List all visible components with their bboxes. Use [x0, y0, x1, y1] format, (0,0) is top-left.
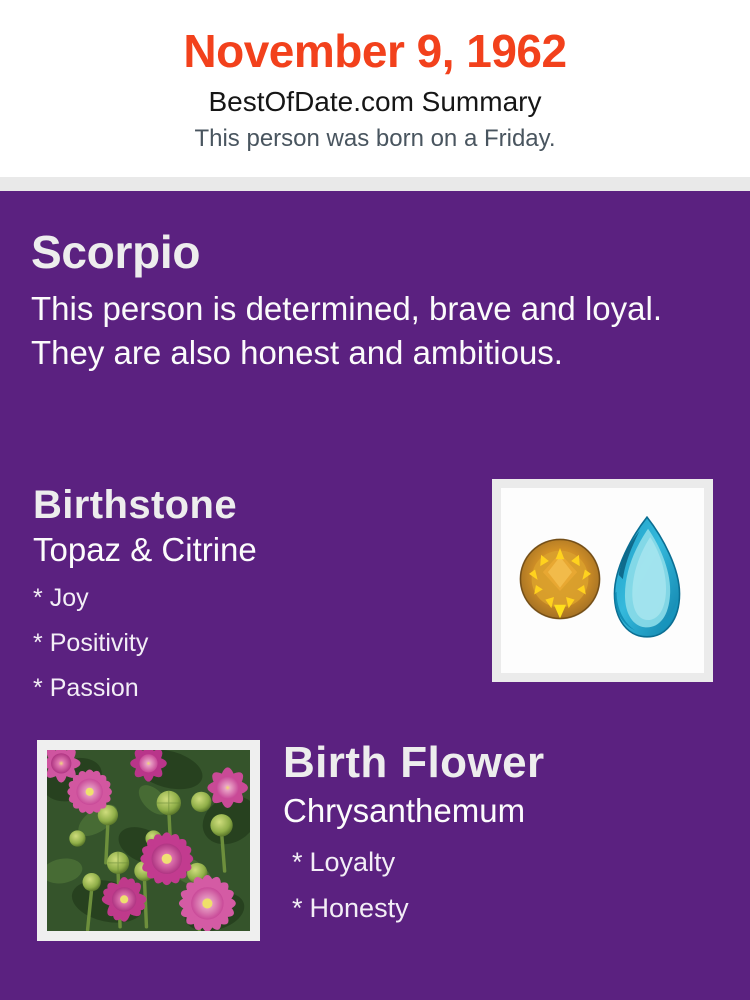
list-item: *Joy — [33, 576, 473, 621]
trait-label: Passion — [50, 674, 139, 702]
birth-flower-trait-list: *Loyalty *Honesty — [283, 839, 723, 931]
site-summary-label: BestOfDate.com Summary — [0, 83, 750, 121]
zodiac-sign-name: Scorpio — [31, 225, 703, 279]
list-item: *Positivity — [33, 621, 473, 666]
birthstone-section: Birthstone Topaz & Citrine *Joy *Positiv… — [33, 480, 473, 711]
flower-image-frame — [37, 740, 260, 941]
bullet-star-icon: * — [33, 666, 43, 711]
birth-flower-section: Birth Flower Chrysanthemum *Loyalty *Hon… — [283, 735, 723, 931]
birth-flower-heading: Birth Flower — [283, 735, 723, 791]
bullet-star-icon: * — [292, 839, 303, 885]
chrysanthemum-photo-icon — [47, 750, 250, 931]
birth-flower-name: Chrysanthemum — [283, 789, 723, 833]
flower-image — [47, 750, 250, 931]
page-title: November 9, 1962 — [0, 22, 750, 80]
bullet-star-icon: * — [33, 576, 43, 621]
list-item: *Loyalty — [283, 839, 723, 885]
bullet-star-icon: * — [292, 885, 303, 931]
trait-label: Honesty — [310, 893, 409, 923]
birthstone-image-frame — [492, 479, 713, 682]
list-item: *Passion — [33, 666, 473, 711]
birthstone-image — [501, 488, 704, 673]
citrine-gem-icon — [517, 536, 603, 622]
born-day-note: This person was born on a Friday. — [0, 122, 750, 156]
birthstone-trait-list: *Joy *Positivity *Passion — [33, 576, 473, 711]
zodiac-description: This person is determined, brave and loy… — [31, 287, 691, 375]
trait-label: Joy — [50, 584, 89, 612]
trait-label: Loyalty — [310, 847, 396, 877]
header-divider — [0, 177, 750, 191]
card-header: November 9, 1962 BestOfDate.com Summary … — [0, 0, 750, 177]
bullet-star-icon: * — [33, 621, 43, 666]
birthstone-name: Topaz & Citrine — [33, 528, 473, 572]
trait-label: Positivity — [50, 629, 149, 657]
birthstone-heading: Birthstone — [33, 480, 473, 530]
summary-card: November 9, 1962 BestOfDate.com Summary … — [0, 0, 750, 1000]
list-item: *Honesty — [283, 885, 723, 931]
zodiac-section: Scorpio This person is determined, brave… — [31, 225, 703, 375]
topaz-gem-icon — [610, 514, 684, 640]
